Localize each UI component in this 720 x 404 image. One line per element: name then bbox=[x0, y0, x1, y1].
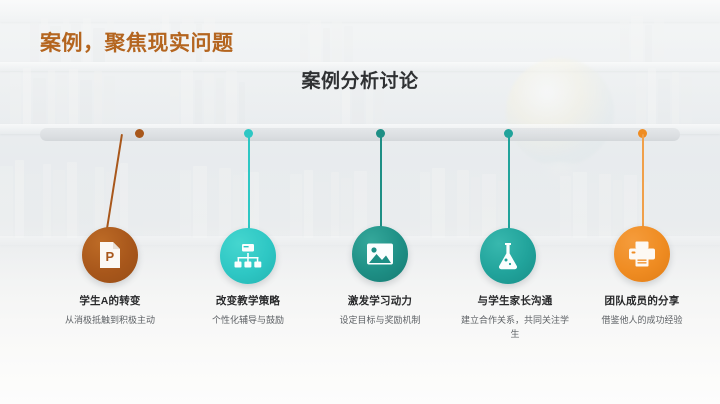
slide-canvas: 案例，聚焦现实问题 案例分析讨论 P 学生A的转变 从消极抵触到积极主动 bbox=[0, 0, 720, 404]
timeline-stem-2 bbox=[248, 134, 250, 230]
timeline-caption-1: 学生A的转变 从消极抵触到积极主动 bbox=[45, 293, 175, 327]
timeline-desc-1: 从消极抵触到积极主动 bbox=[45, 313, 175, 327]
background-photo bbox=[0, 0, 720, 404]
printer-icon bbox=[628, 241, 656, 267]
timeline-icon-circle-1[interactable]: P bbox=[82, 227, 138, 283]
timeline-icon-circle-4[interactable] bbox=[480, 228, 536, 284]
timeline-caption-4: 与学生家长沟通 建立合作关系，共同关注学生 bbox=[457, 293, 573, 341]
image-photo-icon bbox=[366, 242, 394, 266]
svg-text:P: P bbox=[106, 249, 115, 264]
timeline-title-1: 学生A的转变 bbox=[45, 293, 175, 308]
page-title: 案例，聚焦现实问题 bbox=[40, 27, 234, 57]
timeline-caption-3: 激发学习动力 设定目标与奖励机制 bbox=[315, 293, 445, 327]
timeline-dot-1 bbox=[135, 129, 144, 138]
timeline-caption-2: 改变教学策略 个性化辅导与鼓励 bbox=[183, 293, 313, 327]
timeline-desc-2: 个性化辅导与鼓励 bbox=[183, 313, 313, 327]
timeline-stem-5 bbox=[642, 134, 644, 228]
timeline-stem-4 bbox=[508, 134, 510, 230]
timeline-title-3: 激发学习动力 bbox=[315, 293, 445, 308]
org-chart-icon bbox=[234, 243, 262, 269]
timeline-title-4: 与学生家长沟通 bbox=[457, 293, 573, 308]
timeline-title-2: 改变教学策略 bbox=[183, 293, 313, 308]
powerpoint-document-icon: P bbox=[97, 241, 123, 269]
timeline-desc-5: 借鉴他人的成功经验 bbox=[577, 313, 707, 327]
timeline-icon-circle-2[interactable] bbox=[220, 228, 276, 284]
page-subtitle: 案例分析讨论 bbox=[0, 66, 720, 93]
timeline-title-5: 团队成员的分享 bbox=[577, 293, 707, 308]
timeline-caption-5: 团队成员的分享 借鉴他人的成功经验 bbox=[577, 293, 707, 327]
timeline-desc-4: 建立合作关系，共同关注学生 bbox=[457, 313, 573, 341]
flask-beaker-icon bbox=[496, 242, 520, 270]
timeline-stem-3 bbox=[380, 134, 382, 228]
timeline-icon-circle-5[interactable] bbox=[614, 226, 670, 282]
timeline-icon-circle-3[interactable] bbox=[352, 226, 408, 282]
timeline-desc-3: 设定目标与奖励机制 bbox=[315, 313, 445, 327]
